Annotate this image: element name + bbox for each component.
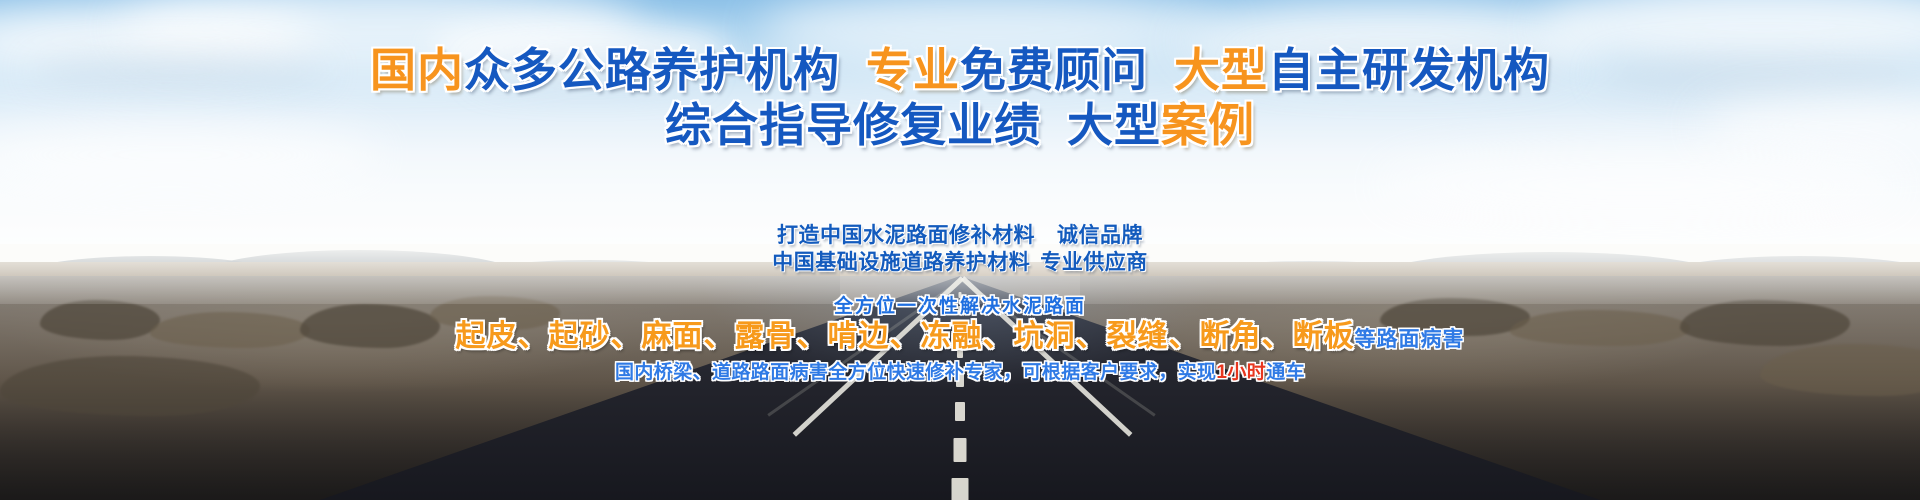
headline-line-1: 国内众多公路养护机构专业免费顾问大型自主研发机构 [0, 44, 1920, 96]
tagline-duration: 1小时 [1216, 362, 1266, 383]
subheadline-brand: 诚信品牌 [1057, 224, 1143, 247]
headline-seg-professional: 专业 [866, 44, 960, 96]
subheadline-infra: 中国基础设施道路养护材料 [772, 251, 1030, 274]
tagline-part-2: 通车 [1266, 362, 1305, 383]
headline-seg-guidance: 综合指导修复业绩 [665, 99, 1041, 151]
banner-text-layer: 国内众多公路养护机构专业免费顾问大型自主研发机构 综合指导修复业绩大型案例 打造… [0, 0, 1920, 500]
bottom-lead-text: 全方位一次性解决水泥路面 [0, 295, 1920, 318]
headline-seg-large: 大型 [1067, 99, 1161, 151]
bottom-tagline: 国内桥梁、道路路面病害全方位快速修补专家，可根据客户要求，实现1小时通车 [0, 361, 1920, 385]
headline-seg-agencies: 众多公路养护机构 [464, 44, 840, 96]
defect-items: 起皮、起砂、麻面、露骨、啃边、冻融、坑洞、裂缝、断角、断板 [456, 320, 1355, 353]
subheadline-line-2: 中国基础设施道路养护材料专业供应商 [0, 249, 1920, 276]
promo-banner: 国内众多公路养护机构专业免费顾问大型自主研发机构 综合指导修复业绩大型案例 打造… [0, 0, 1920, 500]
headline-seg-cases: 案例 [1161, 99, 1255, 151]
subheadline-material: 打造中国水泥路面修补材料 [777, 224, 1035, 247]
headline-seg-large-scale: 大型 [1174, 44, 1268, 96]
subheadline-line-1: 打造中国水泥路面修补材料诚信品牌 [0, 222, 1920, 249]
bottom-defect-list: 起皮、起砂、麻面、露骨、啃边、冻融、坑洞、裂缝、断角、断板等路面病害 [0, 318, 1920, 359]
headline-line-2: 综合指导修复业绩大型案例 [0, 99, 1920, 151]
defect-suffix: 等路面病害 [1355, 328, 1465, 351]
tagline-part-1: 国内桥梁、道路路面病害全方位快速修补专家，可根据客户要求，实现 [615, 362, 1216, 383]
headline-seg-free-consult: 免费顾问 [960, 44, 1148, 96]
headline-seg-rnd-org: 自主研发机构 [1268, 44, 1550, 96]
subheadline-supplier: 专业供应商 [1040, 251, 1148, 274]
headline-seg-domestic: 国内 [370, 44, 464, 96]
